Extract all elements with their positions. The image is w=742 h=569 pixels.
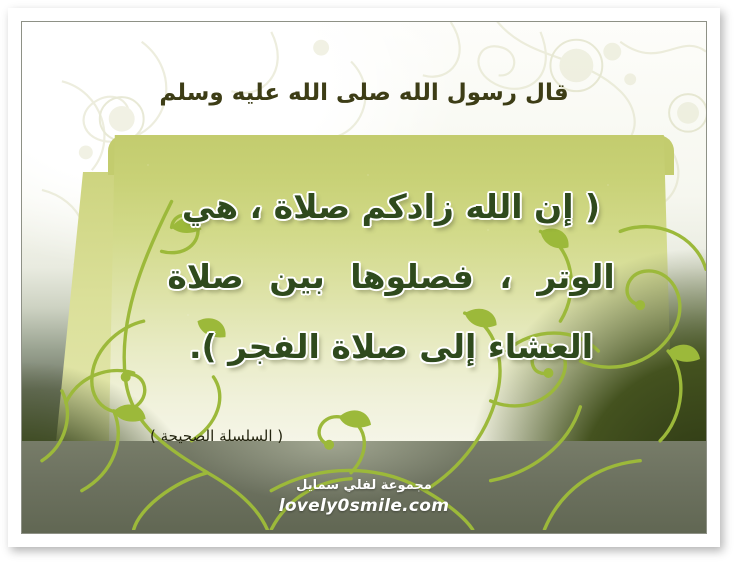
- footer: مجموعة لفلي سمايل lovely0smile.com: [22, 477, 706, 517]
- footer-group-name: مجموعة لفلي سمايل: [22, 477, 706, 495]
- source-attribution: ( السلسلة الصحيحة ): [150, 427, 283, 445]
- quote-line-3: العشاء إلى صلاة الفجر ).: [126, 312, 656, 382]
- poster-canvas: قال رسول الله صلى الله عليه وسلم ( إن ال…: [21, 21, 707, 534]
- outer-frame: قال رسول الله صلى الله عليه وسلم ( إن ال…: [8, 8, 720, 547]
- quote-line-1: ( إن الله زادكم صلاة ، هي: [126, 172, 656, 242]
- quote-text: ( إن الله زادكم صلاة ، هي الوتر ، فصلوها…: [126, 172, 656, 382]
- quote-line-2: الوتر ، فصلوها بين صلاة: [126, 242, 656, 312]
- footer-website-link[interactable]: lovely0smile.com: [22, 495, 706, 517]
- page-title: قال رسول الله صلى الله عليه وسلم: [22, 80, 706, 106]
